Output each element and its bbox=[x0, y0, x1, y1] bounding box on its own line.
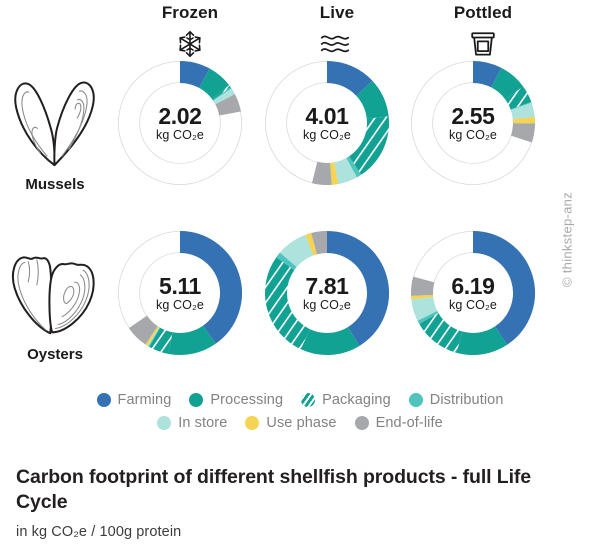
column-title: Frozen bbox=[115, 0, 265, 24]
oyster-shells-icon bbox=[0, 228, 110, 340]
legend-label: Processing bbox=[210, 392, 283, 408]
column-header-pottled: Pottled bbox=[408, 0, 558, 64]
column-header-live: Live bbox=[262, 0, 412, 64]
segment-distribution bbox=[222, 94, 223, 95]
legend-row-top: FarmingProcessingPackagingDistribution bbox=[0, 392, 600, 408]
segment-processing bbox=[364, 88, 377, 117]
segment-in-store bbox=[222, 95, 225, 100]
segment-farming bbox=[180, 72, 204, 78]
segment-processing bbox=[496, 78, 514, 93]
segment-use-phase bbox=[331, 173, 336, 174]
row-name: Mussels bbox=[0, 170, 110, 193]
legend-swatch-icon bbox=[355, 416, 369, 430]
mussel-shells-icon bbox=[0, 58, 110, 170]
column-title: Live bbox=[262, 0, 412, 24]
segment-use-phase bbox=[309, 244, 314, 245]
legend-label: Distribution bbox=[430, 392, 504, 408]
legend-swatch-icon bbox=[189, 393, 203, 407]
row-name: Oysters bbox=[0, 340, 110, 363]
segment-end-of-life bbox=[225, 99, 230, 113]
segment-use-phase bbox=[152, 335, 154, 336]
row-label-mussels: Mussels bbox=[0, 58, 110, 193]
segment-packaging bbox=[220, 92, 221, 94]
legend-item-distribution[interactable]: Distribution bbox=[409, 392, 504, 408]
segment-distribution bbox=[427, 316, 428, 319]
legend: FarmingProcessingPackagingDistribution I… bbox=[0, 392, 600, 431]
segment-packaging bbox=[429, 318, 460, 342]
legend-row-bottom: In storeUse phaseEnd-of-life bbox=[0, 415, 600, 431]
legend-label: Use phase bbox=[266, 415, 336, 431]
segment-packaging bbox=[355, 118, 378, 166]
segment-in-store bbox=[288, 245, 309, 260]
segment-processing bbox=[305, 336, 353, 344]
legend-item-end-of-life[interactable]: End-of-life bbox=[355, 415, 443, 431]
segment-packaging bbox=[155, 337, 171, 343]
segment-farming bbox=[473, 72, 496, 78]
legend-swatch-icon bbox=[97, 393, 111, 407]
donut-mussels-frozen: 2.02kg CO₂e bbox=[115, 58, 245, 188]
legend-item-use-phase[interactable]: Use phase bbox=[245, 415, 336, 431]
legend-item-farming[interactable]: Farming bbox=[97, 392, 172, 408]
donut-mussels-live: 4.01kg CO₂e bbox=[262, 58, 392, 188]
legend-item-in-store[interactable]: In store bbox=[157, 415, 227, 431]
legend-swatch-icon bbox=[409, 393, 423, 407]
segment-packaging bbox=[276, 264, 305, 340]
legend-swatch-icon bbox=[245, 416, 259, 430]
segment-farming bbox=[327, 72, 364, 88]
legend-label: Farming bbox=[118, 392, 172, 408]
segment-farming bbox=[180, 242, 231, 335]
segment-distribution bbox=[352, 166, 356, 168]
caption-title: Carbon footprint of different shellfish … bbox=[16, 465, 586, 515]
segment-processing bbox=[204, 78, 220, 92]
segment-processing bbox=[170, 335, 209, 344]
column-header-frozen: Frozen bbox=[115, 0, 265, 64]
legend-label: End-of-life bbox=[376, 415, 443, 431]
segment-packaging bbox=[514, 93, 521, 106]
legend-item-processing[interactable]: Processing bbox=[189, 392, 283, 408]
caption: Carbon footprint of different shellfish … bbox=[16, 465, 586, 540]
legend-swatch-icon bbox=[157, 416, 171, 430]
segment-in-store bbox=[521, 106, 524, 118]
legend-label: Packaging bbox=[322, 392, 391, 408]
caption-subtitle: in kg CO₂e / 100g protein bbox=[16, 515, 586, 540]
infographic-canvas: Frozen Live bbox=[0, 0, 600, 554]
donut-oysters-live: 7.81kg CO₂e bbox=[262, 228, 392, 358]
segment-farming bbox=[327, 242, 378, 336]
row-label-oysters: Oysters bbox=[0, 228, 110, 363]
donut-oysters-frozen: 5.11kg CO₂e bbox=[115, 228, 245, 358]
watermark-credit: © thinkstep-anz bbox=[560, 165, 575, 315]
segment-end-of-life bbox=[422, 280, 424, 296]
segment-end-of-life bbox=[314, 242, 327, 244]
segment-processing bbox=[459, 336, 501, 344]
segment-farming bbox=[473, 242, 524, 336]
segment-end-of-life bbox=[315, 172, 331, 174]
donut-oysters-pottled: 6.19kg CO₂e bbox=[408, 228, 538, 358]
segment-in-store bbox=[336, 168, 351, 173]
segment-distribution bbox=[285, 260, 288, 264]
segment-end-of-life bbox=[138, 322, 152, 335]
donut-mussels-pottled: 2.55kg CO₂e bbox=[408, 58, 538, 188]
legend-label: In store bbox=[178, 415, 227, 431]
segment-in-store bbox=[422, 298, 427, 316]
column-title: Pottled bbox=[408, 0, 558, 24]
legend-swatch-icon bbox=[301, 393, 315, 407]
segment-end-of-life bbox=[521, 123, 524, 139]
legend-item-packaging[interactable]: Packaging bbox=[301, 392, 391, 408]
